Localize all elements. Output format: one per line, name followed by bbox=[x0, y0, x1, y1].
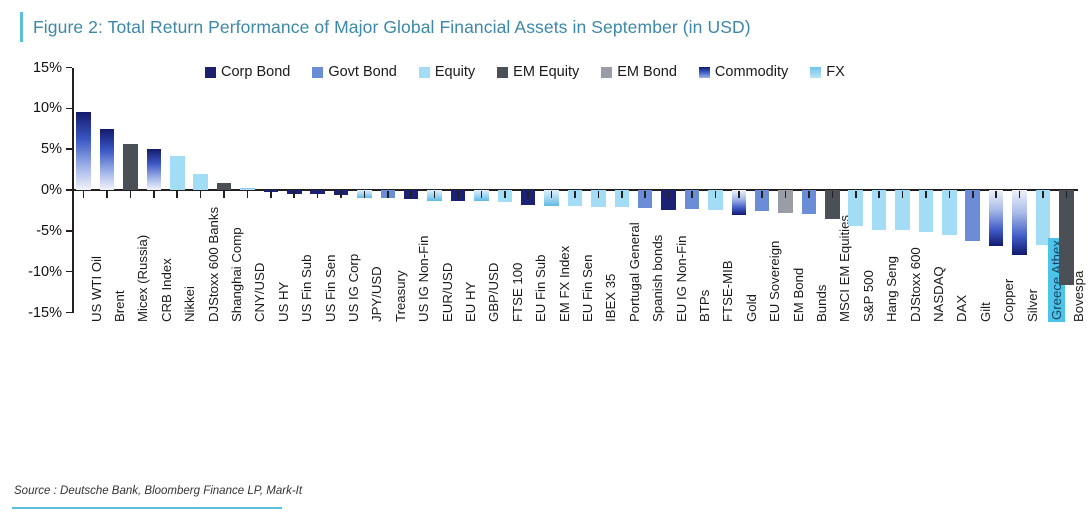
x-axis-tick-label: EU Fin Sen bbox=[580, 255, 595, 322]
y-axis-tick-label: 10% bbox=[33, 100, 62, 116]
source-accent-rule bbox=[12, 507, 282, 509]
x-axis-tick-label: EU Sovereign bbox=[767, 241, 782, 322]
y-axis-tick-mark bbox=[66, 67, 72, 69]
x-axis-tick-mark bbox=[293, 191, 295, 198]
x-axis-tick-label: Treasury bbox=[393, 270, 408, 322]
x-axis-tick-mark bbox=[247, 191, 249, 198]
x-axis-tick-mark bbox=[738, 191, 740, 198]
y-axis-tick-label: 5% bbox=[41, 141, 62, 157]
x-axis-tick-mark bbox=[83, 191, 85, 198]
x-axis-tick-label: CRB Index bbox=[159, 258, 174, 322]
y-axis-tick-mark bbox=[66, 312, 72, 314]
x-axis-tick-label: Spanish bonds bbox=[650, 235, 665, 322]
x-axis-tick-label: Nikkei bbox=[182, 286, 197, 322]
x-axis-tick-mark bbox=[551, 191, 553, 198]
x-axis-tick-mark bbox=[340, 191, 342, 198]
x-axis-tick-label: CNY/USD bbox=[252, 263, 267, 322]
x-axis-tick-label: Gilt bbox=[978, 302, 993, 322]
x-axis-tick-mark bbox=[902, 191, 904, 198]
y-axis-tick-mark bbox=[66, 148, 72, 150]
x-axis-tick-label: GBP/USD bbox=[486, 263, 501, 322]
x-axis-tick-mark bbox=[925, 191, 927, 198]
y-axis-tick-mark bbox=[66, 230, 72, 232]
x-axis-tick-mark bbox=[972, 191, 974, 198]
x-axis-tick-mark bbox=[200, 191, 202, 198]
x-axis-tick-label: IBEX 35 bbox=[603, 274, 618, 322]
x-axis-tick-mark bbox=[153, 191, 155, 198]
x-axis-tick-label: FTSE-MIB bbox=[720, 260, 735, 322]
x-axis-tick-label: US WTI Oil bbox=[89, 256, 104, 322]
x-axis-tick-mark bbox=[1042, 191, 1044, 198]
x-axis-tick-mark bbox=[270, 191, 272, 198]
x-axis-tick-label: EU HY bbox=[463, 282, 478, 322]
bar-djstoxx-600-banks bbox=[193, 174, 208, 190]
x-axis-tick-label: FTSE 100 bbox=[510, 263, 525, 322]
x-axis-tick-mark bbox=[621, 191, 623, 198]
x-axis-tick-label: Silver bbox=[1025, 289, 1040, 322]
x-axis-tick-mark bbox=[317, 191, 319, 198]
y-axis-tick-mark bbox=[66, 271, 72, 273]
x-axis-tick-label: Gold bbox=[744, 294, 759, 322]
bar-silver bbox=[1012, 190, 1027, 255]
x-axis-tick-mark bbox=[691, 191, 693, 198]
x-axis-tick-label: DJStoxx 600 Banks bbox=[206, 207, 221, 322]
x-axis-tick-label: EUR/USD bbox=[440, 263, 455, 322]
x-axis-tick-mark bbox=[949, 191, 951, 198]
x-axis-tick-label: EM FX Index bbox=[557, 246, 572, 322]
x-axis-tick-label: Bunds bbox=[814, 285, 829, 322]
x-axis-tick-label: Copper bbox=[1001, 279, 1016, 322]
x-axis-tick-label: EU IG Non-Fin bbox=[674, 236, 689, 322]
x-axis-tick-mark bbox=[761, 191, 763, 198]
x-axis-tick-label: NASDAQ bbox=[931, 266, 946, 322]
x-axis-tick-label: US Fin Sen bbox=[323, 255, 338, 322]
chart-plot-area: 15%10%5%0%-5%-10%-15% US WTI OilBrentMic… bbox=[0, 0, 1090, 521]
x-axis-tick-mark bbox=[527, 191, 529, 198]
x-axis-tick-mark bbox=[1019, 191, 1021, 198]
x-axis-tick-mark bbox=[832, 191, 834, 198]
y-axis-tick-label: -10% bbox=[28, 264, 62, 280]
x-axis-tick-mark bbox=[644, 191, 646, 198]
x-axis-tick-label: Brent bbox=[112, 290, 127, 322]
x-axis-tick-label: BTPs bbox=[697, 290, 712, 322]
x-axis-tick-mark bbox=[574, 191, 576, 198]
bar-brent bbox=[100, 129, 115, 190]
x-axis-tick-label: US IG Corp bbox=[346, 254, 361, 322]
x-axis-tick-label: MSCI EM Equities bbox=[837, 215, 852, 322]
x-axis-tick-label: US Fin Sub bbox=[299, 255, 314, 322]
x-axis-tick-mark bbox=[223, 191, 225, 198]
y-axis-tick-label: -15% bbox=[28, 305, 62, 321]
y-axis-tick-label: 0% bbox=[41, 182, 62, 198]
bar-crb-index bbox=[147, 149, 162, 190]
x-axis-tick-label: Bovespa bbox=[1071, 271, 1086, 322]
x-axis-tick-mark bbox=[176, 191, 178, 198]
x-axis-tick-label: Micex (Russia) bbox=[135, 235, 150, 322]
x-axis-tick-mark bbox=[598, 191, 600, 198]
x-axis-tick-mark bbox=[668, 191, 670, 198]
bar-nikkei bbox=[170, 156, 185, 190]
x-axis-tick-label: DAX bbox=[954, 295, 969, 322]
x-axis-tick-mark bbox=[130, 191, 132, 198]
x-axis-tick-label: Hang Seng bbox=[884, 256, 899, 322]
x-axis-tick-label: EM Bond bbox=[791, 268, 806, 322]
x-axis-tick-label: EU Fin Sub bbox=[533, 255, 548, 322]
x-axis-tick-mark bbox=[410, 191, 412, 198]
x-axis-tick-mark bbox=[387, 191, 389, 198]
x-axis-tick-mark bbox=[1066, 191, 1068, 198]
figure-container: Figure 2: Total Return Performance of Ma… bbox=[0, 0, 1090, 521]
x-axis-tick-label: US HY bbox=[276, 282, 291, 322]
x-axis-tick-mark bbox=[481, 191, 483, 198]
x-axis-tick-mark bbox=[878, 191, 880, 198]
x-axis-tick-label: US IG Non-Fin bbox=[416, 236, 431, 322]
x-axis-tick-mark bbox=[106, 191, 108, 198]
y-axis-tick-label: -5% bbox=[36, 223, 62, 239]
y-axis-tick-mark bbox=[66, 189, 72, 191]
x-axis-tick-label: DJStoxx 600 bbox=[908, 247, 923, 322]
x-axis-tick-mark bbox=[855, 191, 857, 198]
x-axis-tick-mark bbox=[504, 191, 506, 198]
y-axis-labels: 15%10%5%0%-5%-10%-15% bbox=[10, 0, 62, 521]
y-axis-tick-mark bbox=[66, 108, 72, 110]
x-axis-tick-mark bbox=[808, 191, 810, 198]
x-axis-tick-label: Shanghai Comp bbox=[229, 227, 244, 322]
bar-us-wti-oil bbox=[76, 112, 91, 190]
x-axis-tick-label: Portugal General bbox=[627, 222, 642, 322]
x-axis-tick-label: JPY/USD bbox=[369, 266, 384, 322]
y-axis-tick-label: 15% bbox=[33, 60, 62, 76]
x-axis-tick-mark bbox=[715, 191, 717, 198]
x-axis-tick-mark bbox=[364, 191, 366, 198]
bar-shanghai-comp bbox=[217, 183, 232, 190]
x-axis-tick-mark bbox=[785, 191, 787, 198]
source-note: Source : Deutsche Bank, Bloomberg Financ… bbox=[14, 485, 302, 497]
x-axis-tick-mark bbox=[457, 191, 459, 198]
x-axis-tick-label: S&P 500 bbox=[861, 270, 876, 322]
x-axis-tick-mark bbox=[995, 191, 997, 198]
bar-cny-usd bbox=[240, 188, 255, 190]
bar-copper bbox=[989, 190, 1004, 246]
bar-micex-russia bbox=[123, 144, 138, 190]
x-axis-tick-mark bbox=[434, 191, 436, 198]
bar-greece-athex bbox=[1036, 190, 1051, 245]
